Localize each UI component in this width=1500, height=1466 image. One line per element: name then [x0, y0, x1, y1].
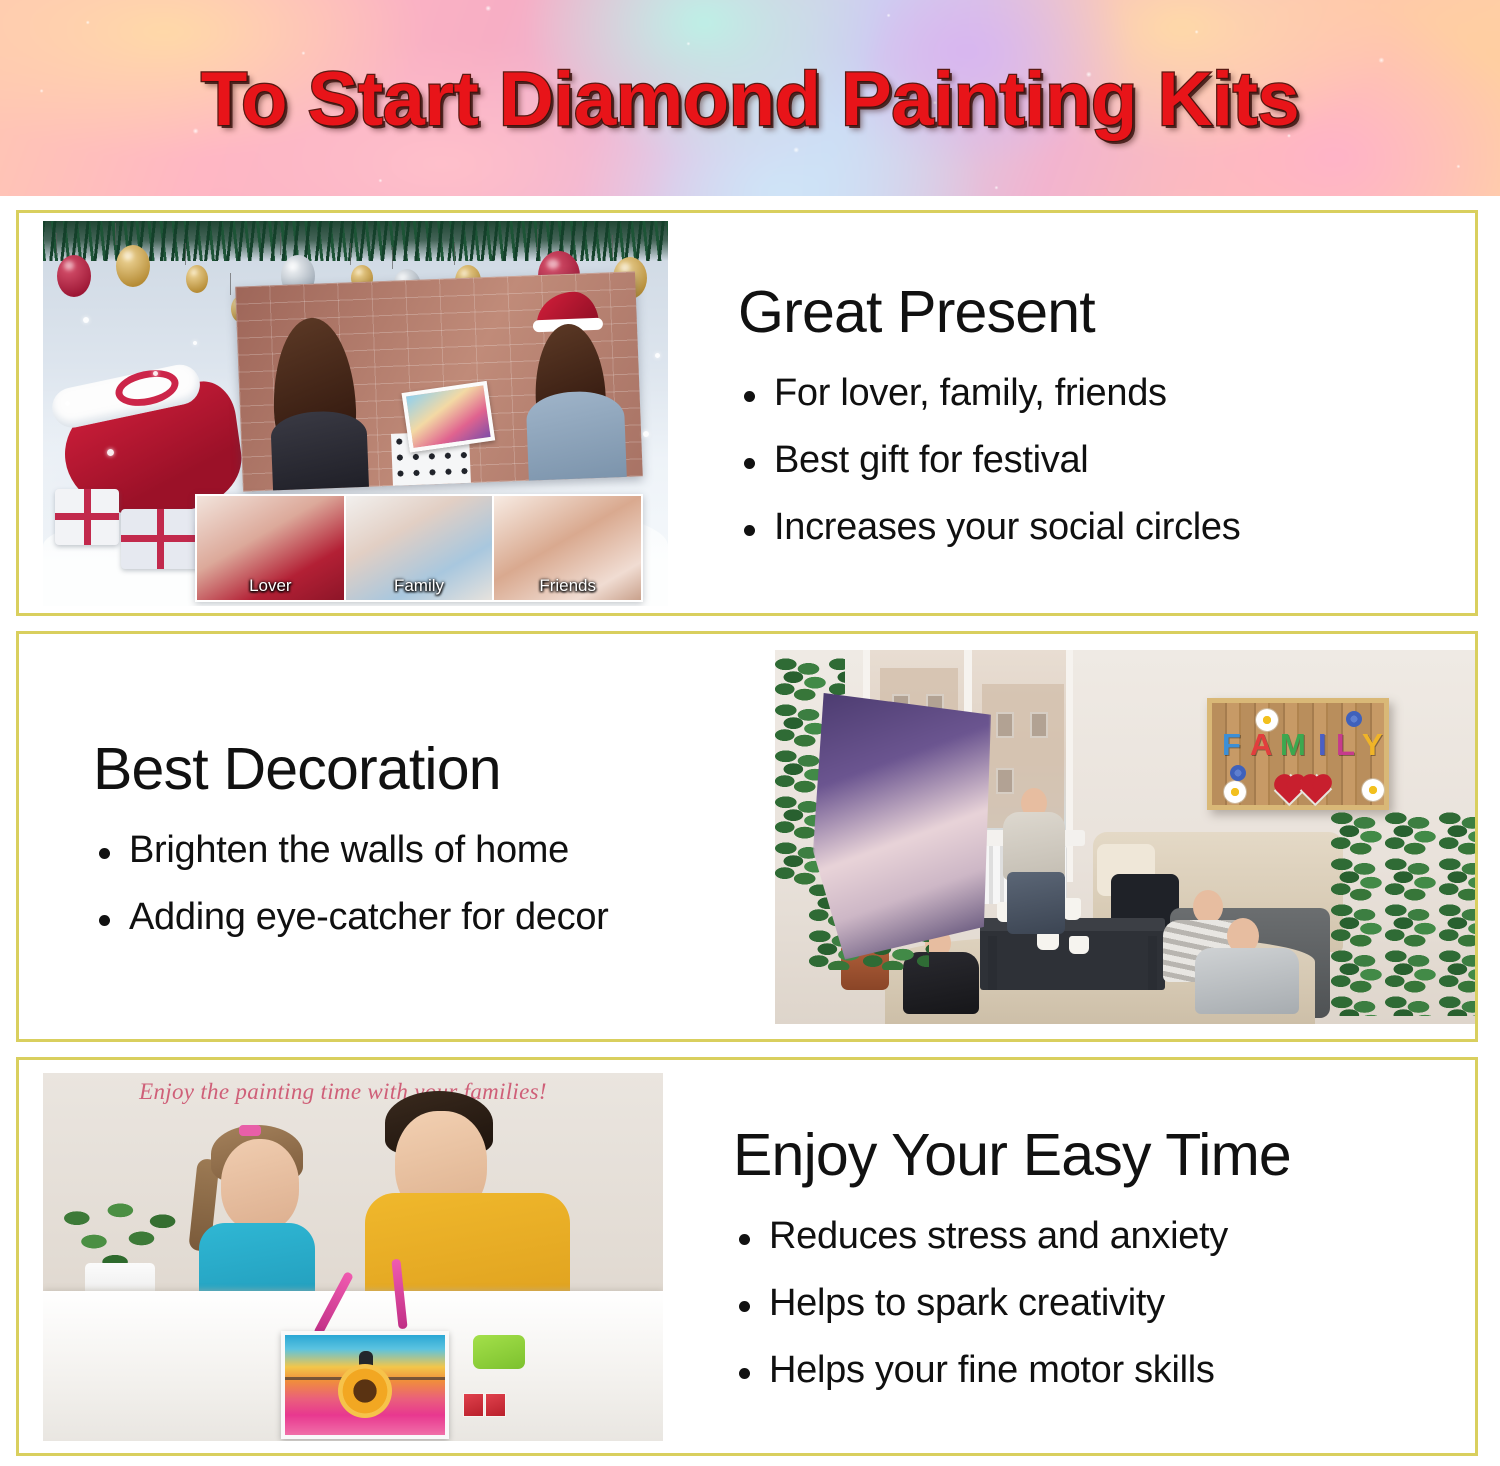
diamond-painting-canvas	[402, 380, 496, 452]
heart-icon	[1277, 776, 1304, 803]
panel-heading: Best Decoration	[93, 735, 609, 803]
list-item: Increases your social circles	[738, 506, 1240, 549]
panel-text-enjoy-your-easy-time: Enjoy Your Easy Time Reduces stress and …	[707, 1121, 1317, 1392]
daisy-flower-icon	[1224, 781, 1246, 803]
ribbon	[55, 513, 119, 520]
benefit-list: Reduces stress and anxiety Helps to spar…	[733, 1215, 1291, 1392]
page-title: To Start Diamond Painting Kits	[0, 56, 1500, 143]
person-right	[526, 389, 627, 483]
snowflake	[655, 353, 660, 358]
canvas-letter: I	[1318, 729, 1327, 760]
torso	[1003, 812, 1065, 880]
header-banner: To Start Diamond Painting Kits	[0, 0, 1500, 196]
panel-text-great-present: Great Present For lover, family, friends…	[712, 278, 1266, 549]
list-item: Adding eye-catcher for decor	[93, 896, 609, 939]
legs	[1007, 872, 1065, 934]
list-item: Brighten the walls of home	[93, 829, 609, 872]
bead-pack	[463, 1393, 484, 1417]
list-item: Reduces stress and anxiety	[733, 1215, 1291, 1258]
canvas-letter: M	[1280, 729, 1306, 760]
snowflake	[83, 317, 89, 323]
panel-text-best-decoration: Best Decoration Brighten the walls of ho…	[67, 735, 635, 939]
hair-clip	[239, 1125, 261, 1136]
potted-plant	[1331, 810, 1475, 1016]
family-wall-canvas: F A M I L Y	[1207, 698, 1389, 810]
thumbnail-friends: Friends	[494, 496, 641, 600]
list-item: Helps to spark creativity	[733, 1282, 1291, 1325]
thumbnail-lover: Lover	[197, 496, 344, 600]
bead-tray	[473, 1335, 525, 1369]
person-left	[270, 409, 369, 491]
canvas-letter: F	[1222, 729, 1241, 760]
father-daughter-painting-photo: Enjoy the painting time with your famili…	[43, 1073, 663, 1441]
feature-panel-great-present: Lover Family Friends Great Present For l…	[16, 210, 1478, 616]
gift-box	[55, 489, 119, 545]
list-item: Helps your fine motor skills	[733, 1349, 1291, 1392]
torso	[1195, 948, 1299, 1014]
cup	[1069, 936, 1089, 954]
snowflake	[65, 401, 70, 406]
canvas-letter: A	[1250, 729, 1272, 760]
head	[221, 1139, 299, 1231]
feature-panel-best-decoration: Best Decoration Brighten the walls of ho…	[16, 631, 1478, 1042]
snowflake	[193, 341, 197, 345]
panel-heading: Enjoy Your Easy Time	[733, 1121, 1291, 1189]
thumbnail-label: Family	[346, 576, 493, 596]
thumbnail-label: Friends	[494, 576, 641, 596]
snowflake	[643, 431, 649, 437]
canvas-letter: Y	[1362, 729, 1383, 760]
snowflake	[153, 371, 158, 376]
benefit-list: Brighten the walls of home Adding eye-ca…	[93, 829, 609, 939]
cornflower-icon	[1230, 765, 1246, 781]
christmas-gift-collage-photo: Lover Family Friends	[43, 221, 668, 606]
bauble-ornament-icon	[57, 255, 91, 297]
daisy-flower-icon	[1256, 709, 1278, 731]
canvas-letter: L	[1336, 729, 1355, 760]
daisy-flower-icon	[1362, 779, 1384, 801]
thumbnail-family: Family	[346, 496, 493, 600]
feature-panel-enjoy-your-easy-time: Enjoy the painting time with your famili…	[16, 1057, 1478, 1456]
list-item: Best gift for festival	[738, 439, 1240, 482]
cup	[1037, 932, 1059, 950]
list-item: For lover, family, friends	[738, 372, 1240, 415]
bauble-ornament-icon	[116, 245, 150, 287]
snowflake	[107, 449, 114, 456]
building-window	[1030, 712, 1048, 738]
diamond-painting-sheet	[281, 1331, 449, 1439]
building-window	[996, 712, 1014, 738]
panel-heading: Great Present	[738, 278, 1240, 346]
heart-icon	[1303, 776, 1330, 803]
living-room-family-canvas-photo: F A M I L Y	[775, 650, 1475, 1024]
hand-closeup-overlay	[813, 688, 991, 960]
cornflower-icon	[1346, 711, 1362, 727]
cup	[1063, 898, 1081, 920]
bauble-ornament-icon	[186, 265, 208, 293]
bead-pack	[485, 1393, 506, 1417]
building-window	[996, 768, 1014, 794]
ribbon	[121, 535, 199, 542]
gift-box	[121, 509, 199, 569]
thumbnail-strip: Lover Family Friends	[195, 494, 643, 602]
head	[1193, 890, 1223, 924]
thumbnail-label: Lover	[197, 576, 344, 596]
sunflower	[338, 1364, 392, 1418]
gift-exchange-photo	[235, 271, 643, 491]
photo-quote: Enjoy the painting time with your famili…	[43, 1079, 643, 1105]
benefit-list: For lover, family, friends Best gift for…	[738, 372, 1240, 549]
